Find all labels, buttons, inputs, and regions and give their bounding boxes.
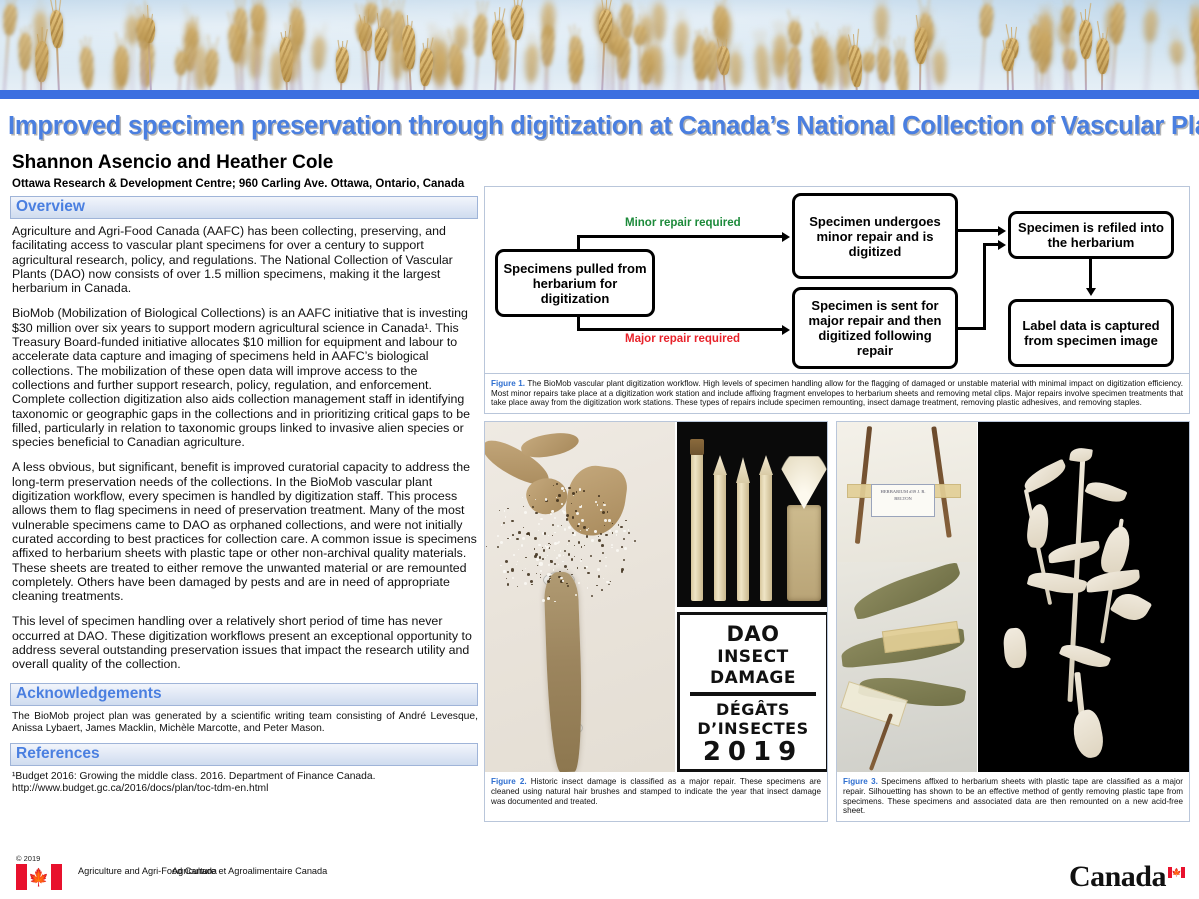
figures-row: DAO INSECT DAMAGE DÉGÂTS D’INSECTES 2019…: [484, 421, 1190, 822]
brush-3: [737, 481, 749, 601]
frass-particle: [534, 537, 537, 540]
wheat-head: [1109, 2, 1125, 44]
frass-particle: [507, 571, 509, 573]
frass-particle: [620, 526, 622, 528]
silhouetted-specimen-photo: [978, 422, 1189, 772]
frass-particle: [529, 534, 530, 535]
stamp-line-dinsectes: D’INSECTES: [680, 719, 826, 738]
frass-particle: [575, 594, 577, 596]
frass-particle: [540, 577, 541, 578]
section-header-acknowledgements: Acknowledgements: [10, 683, 478, 706]
wheat-stalk: [1058, 6, 1076, 90]
wheat-awn: [259, 0, 260, 7]
blue-divider-rule: [0, 90, 1199, 99]
frass-particle: [616, 534, 618, 536]
wheat-head: [496, 36, 509, 81]
frass-particle: [568, 526, 571, 529]
wheat-awn: [131, 2, 132, 18]
frass-particle: [538, 523, 540, 525]
reference-line-1: ¹Budget 2016: Growing the middle class. …: [12, 771, 478, 783]
wheat-stalk: [308, 37, 327, 90]
frass-particle: [576, 512, 579, 515]
flag-center: 🍁: [27, 864, 51, 890]
frass-particle: [597, 504, 599, 506]
wheat-awn: [638, 14, 639, 27]
wheat-awn: [626, 0, 627, 6]
wheat-awn: [237, 19, 239, 26]
frass-particle: [538, 544, 541, 547]
wheat-stem: [191, 41, 196, 90]
wheat-head: [978, 4, 993, 38]
wheat-awn: [194, 15, 196, 23]
frass-particle: [523, 506, 524, 507]
frass-particle: [578, 523, 580, 525]
flow-line-minor-horizontal: [577, 235, 784, 238]
frass-particle: [608, 581, 610, 583]
frass-particle: [522, 537, 525, 540]
frass-particle: [603, 578, 604, 579]
frass-particle: [534, 555, 537, 558]
frass-particle: [561, 503, 563, 505]
wheat-head: [355, 19, 369, 43]
wheat-head: [861, 51, 875, 72]
wheat-awn: [938, 42, 939, 53]
wheat-head: [1061, 6, 1075, 34]
frass-particle: [507, 583, 510, 586]
figure-1-flowchart: Specimens pulled from herbarium for digi…: [484, 186, 1190, 374]
wheat-awn: [881, 0, 882, 8]
wheat-head: [509, 4, 523, 40]
frass-particle: [540, 518, 543, 521]
wheat-awn: [297, 6, 298, 19]
wheat-head: [451, 54, 464, 87]
wheat-head: [1169, 41, 1183, 65]
frass-particle: [573, 495, 574, 496]
wheat-stalk: [875, 47, 891, 90]
wheat-stalk: [820, 46, 837, 90]
silhouette-leaf-11: [1059, 639, 1111, 673]
figure-3-box: HERBARIUM #39 J. R. BELTON: [836, 421, 1190, 822]
frass-particle: [517, 561, 518, 562]
flow-label-minor-repair: Minor repair required: [625, 217, 741, 229]
remount-stem: [869, 713, 893, 771]
frass-particle: [554, 550, 555, 551]
stamp-divider: [690, 692, 816, 696]
wheat-stem: [513, 34, 517, 90]
silhouette-leaf-10: [1003, 627, 1028, 668]
frass-particle: [621, 568, 624, 571]
leaf-upper: [850, 561, 965, 620]
wheat-stalk: [47, 10, 66, 90]
frass-particle: [560, 577, 563, 580]
maple-leaf-icon: 🍁: [28, 869, 49, 886]
wheat-head: [184, 21, 199, 48]
frass-particle: [497, 535, 499, 537]
wheat-head: [472, 13, 488, 56]
wheat-awn: [702, 39, 703, 45]
frass-particle: [540, 570, 542, 572]
wheat-awn: [457, 39, 458, 56]
wheat-head: [921, 22, 935, 43]
flow-node-start: Specimens pulled from herbarium for digi…: [495, 249, 655, 317]
frass-particle: [598, 539, 601, 542]
frass-particle: [598, 536, 599, 537]
frass-particle: [511, 520, 514, 523]
wheat-stalk: [416, 48, 435, 90]
frass-particle: [539, 556, 542, 559]
wheat-stalk: [566, 49, 583, 90]
wheat-awn: [868, 46, 869, 54]
overview-paragraph-1: Agriculture and Agri-Food Canada (AAFC) …: [12, 224, 478, 295]
frass-particle: [623, 530, 625, 532]
frass-particle: [557, 542, 559, 544]
wheat-head: [1143, 10, 1158, 43]
flow-arrow-to-major: [782, 325, 790, 335]
frass-particle: [602, 552, 604, 554]
wheat-stem: [1065, 28, 1069, 90]
frass-particle: [562, 510, 564, 512]
frass-particle: [558, 494, 561, 497]
wheat-head: [674, 22, 689, 58]
frass-particle: [503, 570, 506, 573]
wheat-awn: [240, 0, 241, 10]
canada-wordmark: Canada 🍁: [1069, 858, 1185, 892]
frass-particle: [615, 530, 617, 532]
wheat-stalk: [858, 51, 877, 90]
wheat-stalk: [1094, 38, 1110, 90]
wheat-stem: [601, 37, 605, 90]
frass-particle: [551, 510, 554, 513]
brush-1-tip: [690, 439, 704, 455]
silhouette-leaf-8: [1085, 569, 1141, 593]
flow-label-major-repair: Major repair required: [625, 333, 740, 345]
wheat-head: [289, 17, 303, 53]
wheat-head: [877, 47, 890, 82]
frass-particle: [523, 527, 524, 528]
figure-3-photo: HERBARIUM #39 J. R. BELTON: [837, 422, 1189, 772]
figure-2-caption: Figure 2. Historic insect damage is clas…: [485, 772, 827, 811]
frass-particle: [623, 538, 625, 540]
frass-particle: [554, 532, 556, 534]
frass-particle: [547, 580, 550, 583]
affiliation: Ottawa Research & Development Centre; 96…: [12, 178, 478, 190]
frass-particle: [547, 597, 550, 600]
frass-particle: [581, 559, 582, 560]
frass-particle: [596, 585, 597, 586]
frass-particle: [506, 578, 507, 579]
wheat-head: [79, 47, 94, 88]
frass-particle: [505, 516, 506, 517]
flow-line-major-horizontal: [577, 328, 784, 331]
wheat-head: [524, 45, 538, 83]
wheat-head: [49, 10, 64, 48]
frass-particle: [573, 534, 576, 537]
right-column: Specimens pulled from herbarium for digi…: [484, 186, 1190, 822]
taped-stem-right: [931, 426, 952, 538]
frass-particle: [516, 564, 517, 565]
wheat-awn: [843, 25, 844, 37]
flow-node-refiled: Specimen is refiled into the herbarium: [1008, 211, 1174, 259]
frass-particle: [500, 565, 502, 567]
reference-link[interactable]: http://www.budget.gc.ca/2016/docs/plan/t…: [12, 783, 478, 795]
frass-particle: [547, 555, 548, 556]
frass-particle: [499, 510, 500, 511]
frass-particle: [605, 534, 608, 537]
frass-particle: [598, 495, 600, 497]
wheat-stalk: [333, 47, 350, 90]
wheat-stem: [927, 37, 933, 90]
frass-particle: [525, 557, 526, 558]
frass-particle: [594, 530, 597, 533]
wheat-stalk: [388, 38, 405, 90]
figure-1-caption-text: The BioMob vascular plant digitization w…: [491, 379, 1183, 407]
left-column: Shannon Asencio and Heather Cole Ottawa …: [10, 152, 478, 803]
frass-particle: [501, 524, 503, 526]
frass-particle: [581, 519, 584, 522]
frass-particle: [536, 573, 537, 574]
frass-particle: [511, 568, 514, 571]
wheat-head: [270, 52, 284, 90]
frass-particle: [605, 565, 607, 567]
frass-particle: [581, 546, 583, 548]
page-title: Improved specimen preservation through d…: [8, 112, 1193, 141]
wheat-stem: [545, 30, 549, 90]
frass-particle: [538, 530, 539, 531]
frass-particle: [524, 582, 527, 585]
frass-particle: [538, 565, 539, 566]
wheat-stem: [56, 42, 60, 90]
flow-node-major-repair: Specimen is sent for major repair and th…: [792, 287, 958, 369]
frass-particle: [513, 554, 515, 556]
wheat-awn: [453, 39, 454, 46]
frass-particle: [545, 557, 546, 558]
wheat-stem: [980, 31, 986, 90]
frass-particle: [518, 531, 521, 534]
wheat-head: [893, 50, 909, 90]
frass-particle: [624, 547, 627, 550]
figure-3-caption: Figure 3. Specimens affixed to herbarium…: [837, 772, 1189, 821]
wheat-stalk: [770, 49, 787, 90]
wordmark-flag-center: 🍁: [1172, 867, 1182, 878]
wheat-head: [821, 46, 835, 88]
wheat-head: [335, 47, 349, 83]
frass-particle: [547, 573, 550, 576]
frass-particle: [572, 492, 575, 495]
wheat-head: [418, 48, 433, 87]
flow-line-major-to-riser: [958, 327, 986, 330]
frass-particle: [563, 555, 564, 556]
figure-3-label: Figure 3.: [843, 777, 878, 786]
frass-particle: [586, 535, 588, 537]
wheat-head: [728, 52, 742, 87]
footer: © 2019 🍁 Agriculture and Agri-Food Canad…: [0, 852, 1199, 899]
wheat-head: [754, 45, 770, 90]
frass-particle: [590, 555, 592, 557]
figure-2-label: Figure 2.: [491, 777, 527, 786]
frass-particle: [497, 546, 499, 548]
frass-particle: [583, 490, 585, 492]
wheat-stalk: [1077, 20, 1094, 90]
frass-particle: [544, 532, 546, 534]
wheat-head: [541, 2, 555, 36]
wheat-stalk: [727, 52, 744, 90]
wheat-awn: [25, 26, 26, 35]
frass-particle: [563, 490, 565, 492]
frass-particle: [525, 568, 526, 569]
frass-particle: [540, 574, 541, 575]
wheat-awn: [1102, 33, 1103, 40]
remounted-specimen-photo: [837, 562, 977, 772]
frass-particle: [623, 559, 625, 561]
wheat-awn: [460, 19, 461, 28]
wheat-awn: [1114, 0, 1116, 5]
frass-particle: [554, 517, 556, 519]
wheat-head: [390, 38, 403, 79]
frass-particle: [568, 540, 570, 542]
frass-particle: [579, 488, 581, 490]
wheat-stem: [294, 47, 298, 90]
wheat-awn: [853, 34, 855, 47]
wheat-head: [433, 51, 448, 87]
stamp-line-insect: INSECT: [680, 647, 826, 667]
wheat-awn: [778, 43, 779, 52]
frass-particle: [584, 545, 585, 546]
frass-particle: [558, 554, 561, 557]
wheat-awn: [319, 31, 320, 39]
frass-particle: [634, 540, 636, 542]
frass-particle: [512, 577, 514, 579]
wordmark-flag-right: [1181, 867, 1185, 878]
frass-particle: [552, 524, 555, 527]
wheat-stalk: [1193, 50, 1199, 90]
frass-particle: [628, 532, 630, 534]
wheat-stalk: [610, 34, 628, 90]
flow-node-label-capture: Label data is captured from specimen ima…: [1008, 299, 1174, 367]
authors: Shannon Asencio and Heather Cole: [12, 152, 478, 174]
wheat-awn: [645, 9, 647, 18]
silhouette-leaf-4: [1084, 477, 1127, 507]
wheat-stalk: [16, 33, 33, 90]
wheat-awn: [711, 31, 712, 43]
wheat-awn: [285, 30, 286, 38]
stamp-line-dao: DAO: [680, 622, 826, 646]
frass-particle: [599, 560, 601, 562]
wheat-stem: [1145, 36, 1150, 90]
brush-4: [760, 473, 772, 601]
stamp-line-damage: DAMAGE: [680, 668, 826, 688]
frass-particle: [522, 497, 523, 498]
frass-particle: [564, 528, 566, 530]
wheat-head: [18, 33, 32, 71]
frass-particle: [517, 586, 518, 587]
frass-particle: [504, 510, 505, 511]
wheat-awn: [6, 0, 8, 6]
frass-particle: [556, 557, 558, 559]
insect-damaged-specimen-photo: [485, 422, 675, 772]
stamp-line-degats: DÉGÂTS: [680, 700, 826, 719]
frass-particle: [534, 548, 535, 549]
frass-particle: [558, 564, 560, 566]
wheat-stalk: [32, 38, 49, 90]
frass-particle: [616, 549, 619, 552]
wheat-awn: [716, 2, 718, 9]
frass-particle: [612, 532, 614, 534]
figure-1-caption: Figure 1. The BioMob vascular plant digi…: [485, 374, 1189, 413]
fan-brush: [787, 505, 821, 601]
fan-brush-hair: [774, 449, 827, 509]
frass-particle: [507, 508, 509, 510]
wheat-stalk: [694, 43, 711, 90]
silhouette-leaf-1: [1021, 459, 1069, 494]
frass-particle: [552, 535, 553, 536]
acknowledgements-text: The BioMob project plan was generated by…: [12, 711, 478, 735]
flag-right-bar: [51, 864, 62, 890]
frass-particle: [566, 583, 568, 585]
figure-1-caption-box: Figure 1. The BioMob vascular plant digi…: [484, 374, 1190, 414]
wheat-stalk: [110, 52, 129, 90]
wheat-head: [227, 24, 242, 62]
wheat-stem: [3, 29, 10, 90]
flow-arrow-minor-to-refiled: [998, 226, 1006, 236]
wheat-awn: [605, 0, 607, 11]
brush-2-tip: [713, 455, 727, 475]
frass-particle: [591, 595, 593, 597]
frass-particle: [556, 499, 559, 502]
flow-line-major-riser: [983, 243, 986, 330]
frass-particle: [556, 483, 558, 485]
wheat-stem: [130, 38, 132, 90]
frass-particle: [486, 546, 487, 547]
frass-particle: [605, 557, 606, 558]
wheat-stem: [718, 36, 723, 90]
frass-particle: [572, 516, 575, 519]
flag-left-bar: [16, 864, 27, 890]
frass-particle: [543, 549, 546, 552]
wheat-head: [252, 5, 266, 46]
frass-particle: [568, 553, 570, 555]
wheat-head: [715, 10, 730, 42]
frass-particle: [580, 560, 582, 562]
wheat-stem: [141, 35, 146, 90]
frass-particle: [597, 568, 600, 571]
overview-paragraph-2: BioMob (Mobilization of Biological Colle…: [12, 306, 478, 449]
brush-4-tip: [759, 455, 773, 475]
frass-particle: [524, 511, 527, 514]
wheat-awn: [314, 29, 316, 39]
wheat-awn: [212, 42, 214, 51]
wheat-stalk: [646, 45, 665, 90]
wheat-awn: [502, 20, 503, 38]
frass-particle: [571, 558, 574, 561]
header-banner-image: [0, 0, 1199, 90]
insect-damage-stamp: DAO INSECT DAMAGE DÉGÂTS D’INSECTES 2019: [677, 612, 827, 772]
wheat-awn: [1010, 41, 1012, 50]
frass-particle: [584, 567, 586, 569]
wheat-awn: [531, 32, 533, 47]
brush-1: [691, 453, 703, 601]
wheat-stalk: [77, 47, 96, 90]
wheat-stalk: [353, 18, 372, 90]
frass-particle: [527, 573, 530, 576]
flow-line-minor-to-refiled: [958, 229, 1000, 232]
frass-particle: [601, 589, 603, 591]
frass-particle: [587, 572, 589, 574]
canada-flag-icon: 🍁: [16, 864, 62, 890]
wheat-awn: [617, 18, 619, 37]
silhouette-leaf-2: [1069, 447, 1093, 464]
wheat-head: [310, 37, 325, 71]
wheat-awn: [793, 16, 795, 23]
